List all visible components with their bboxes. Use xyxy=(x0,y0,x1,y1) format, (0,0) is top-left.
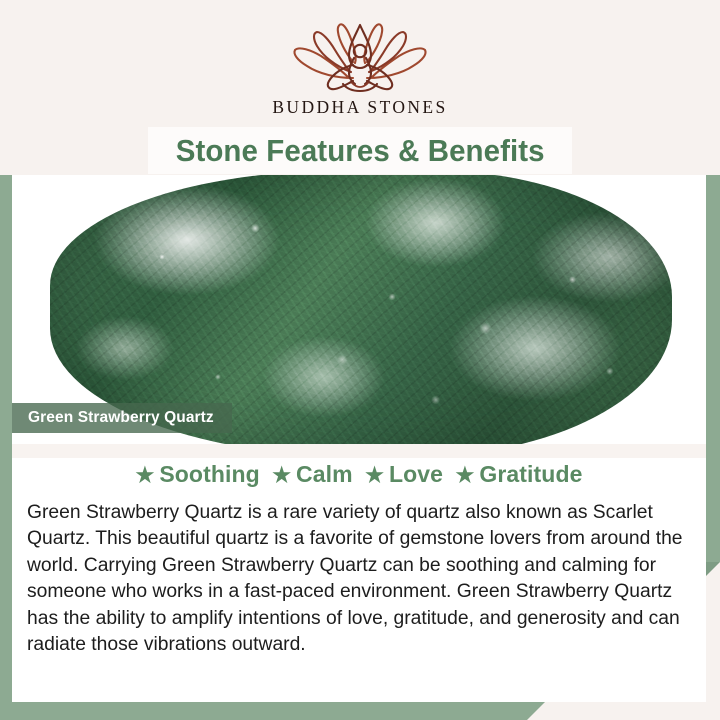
content-section: ★Soothing ★Calm ★Love ★Gratitude Green S… xyxy=(12,444,706,702)
benefit-item-3: ★Gratitude xyxy=(456,461,583,488)
star-icon: ★ xyxy=(136,464,155,487)
benefit-item-1: ★Calm xyxy=(272,461,352,488)
benefit-label: Gratitude xyxy=(479,461,582,487)
benefit-item-0: ★Soothing xyxy=(136,461,260,488)
page-title: Stone Features & Benefits xyxy=(176,133,545,169)
content-tint-bar xyxy=(12,444,706,458)
benefit-label: Soothing xyxy=(159,461,259,487)
star-icon: ★ xyxy=(456,464,475,487)
benefits-row: ★Soothing ★Calm ★Love ★Gratitude xyxy=(12,461,706,488)
title-banner: Stone Features & Benefits xyxy=(148,127,572,174)
benefit-label: Calm xyxy=(296,461,353,487)
frame-accent-right-foot xyxy=(706,562,720,576)
photo-caption: Green Strawberry Quartz xyxy=(12,403,232,433)
description-text: Green Strawberry Quartz is a rare variet… xyxy=(27,500,692,658)
frame-accent-left xyxy=(0,175,12,702)
infographic-canvas: BUDDHA STONES Stone Features & Benefits … xyxy=(0,0,720,720)
star-icon: ★ xyxy=(272,464,291,487)
stone-photo: Green Strawberry Quartz xyxy=(12,175,706,444)
star-icon: ★ xyxy=(365,464,384,487)
benefit-label: Love xyxy=(389,461,443,487)
frame-accent-bottom-left xyxy=(0,702,545,720)
benefit-item-2: ★Love xyxy=(365,461,443,488)
brand-logo: BUDDHA STONES xyxy=(0,22,720,118)
brand-name: BUDDHA STONES xyxy=(0,97,720,118)
lotus-meditation-icon xyxy=(285,22,435,94)
